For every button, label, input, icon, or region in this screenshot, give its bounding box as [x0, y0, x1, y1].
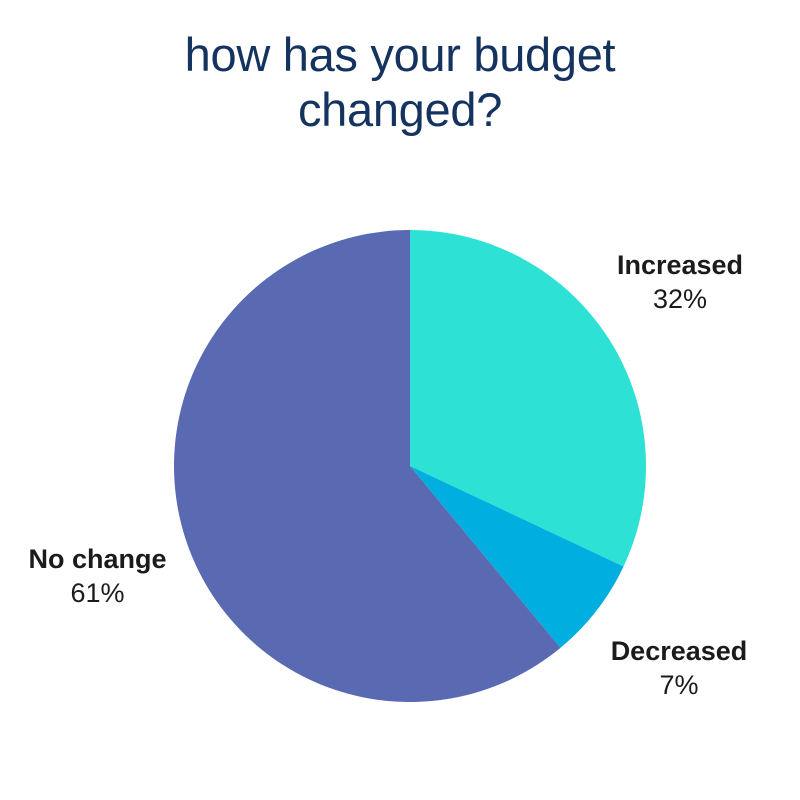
pie-label-no-change-value: 61%: [0, 575, 200, 611]
pie-label-increased-name: Increased: [575, 251, 785, 281]
pie-label-increased-value: 32%: [575, 281, 785, 317]
pie-label-no-change-name: No change: [0, 545, 200, 575]
pie-label-decreased-name: Decreased: [573, 637, 785, 667]
pie-label-decreased: Decreased 7%: [573, 637, 785, 703]
pie-label-increased: Increased 32%: [575, 251, 785, 317]
pie-label-no-change: No change 61%: [0, 545, 200, 611]
pie-label-decreased-value: 7%: [573, 667, 785, 703]
pie-chart-page: how has your budget changed? Increased 3…: [0, 0, 800, 800]
page-title: how has your budget changed?: [0, 28, 800, 137]
